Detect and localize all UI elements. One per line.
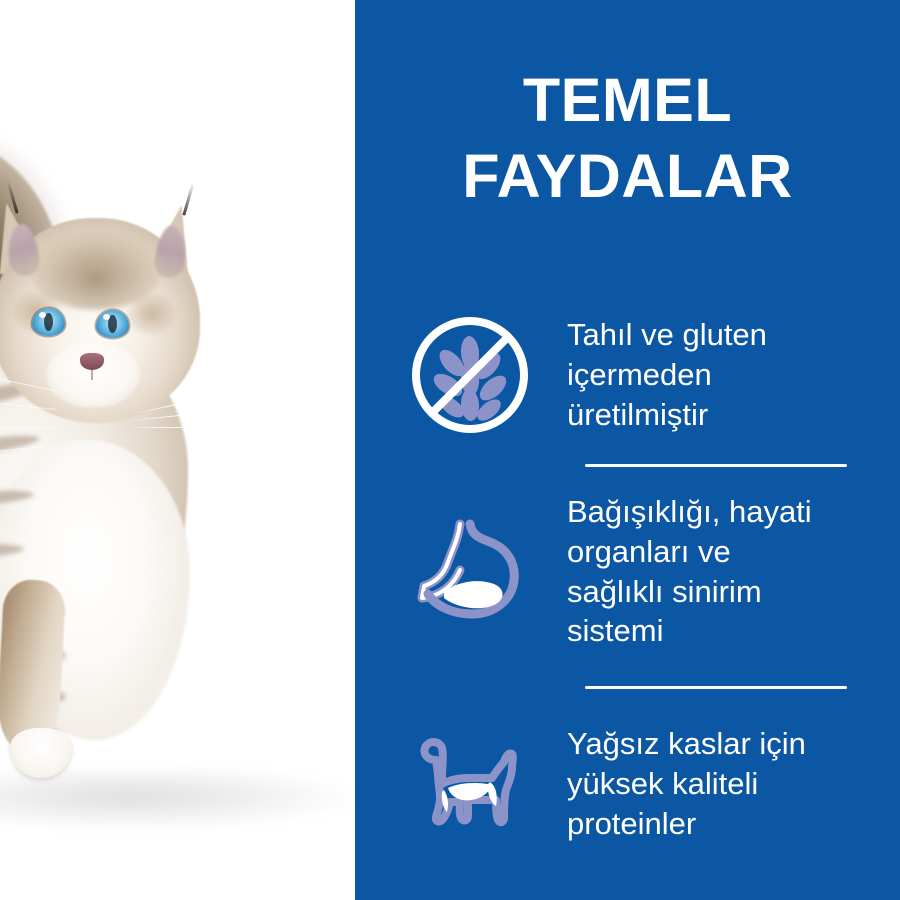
benefit-item-digestive: Bağışıklığı, hayati organları ve sağlıkl… — [355, 479, 900, 664]
benefits-list: Tahıl ve gluten içermeden üretilmiştir — [355, 300, 900, 859]
cat-eye-glint-left — [39, 312, 46, 318]
cat-photo — [0, 140, 350, 800]
benefit-line: yüksek kaliteli — [567, 764, 900, 804]
title-line-2: FAYDALAR — [355, 138, 900, 214]
benefit-line: Yağsız kaslar için — [567, 724, 900, 764]
benefits-panel: TEMEL FAYDALAR — [355, 0, 900, 900]
page-title: TEMEL FAYDALAR — [355, 62, 900, 215]
benefit-line: sistemi — [567, 611, 900, 651]
benefit-divider-1 — [355, 464, 900, 465]
benefit-text-no-grain: Tahıl ve gluten içermeden üretilmiştir — [535, 315, 900, 434]
cat-mouth — [91, 369, 93, 380]
cat-front-paw — [10, 728, 72, 778]
cat-eye-glint-right — [103, 314, 110, 320]
benefit-item-no-grain: Tahıl ve gluten içermeden üretilmiştir — [355, 300, 900, 450]
promo-graphic: TEMEL FAYDALAR — [0, 0, 900, 900]
stomach-icon — [405, 507, 535, 637]
benefit-line: organları ve — [567, 532, 900, 572]
benefit-line: Bağışıklığı, hayati — [567, 492, 900, 532]
benefit-line: içermeden — [567, 355, 900, 395]
benefit-item-lean-muscle: Yağsız kaslar için yüksek kaliteli prote… — [355, 709, 900, 859]
benefit-line: proteinler — [567, 804, 900, 844]
no-grain-icon — [405, 310, 535, 440]
benefit-line: üretilmiştir — [567, 395, 900, 435]
benefit-line: sağlıklı sinirim — [567, 572, 900, 612]
cat-muzzle — [46, 342, 140, 408]
benefit-text-lean-muscle: Yağsız kaslar için yüksek kaliteli prote… — [535, 724, 900, 843]
benefit-line: Tahıl ve gluten — [567, 315, 900, 355]
benefit-divider-2 — [355, 686, 900, 687]
title-line-1: TEMEL — [355, 62, 900, 138]
cat-photo-panel — [0, 0, 355, 900]
benefit-text-digestive: Bağışıklığı, hayati organları ve sağlıkl… — [535, 492, 900, 651]
cat-cheek-right — [128, 294, 174, 334]
lean-muscle-cat-icon — [405, 719, 535, 849]
